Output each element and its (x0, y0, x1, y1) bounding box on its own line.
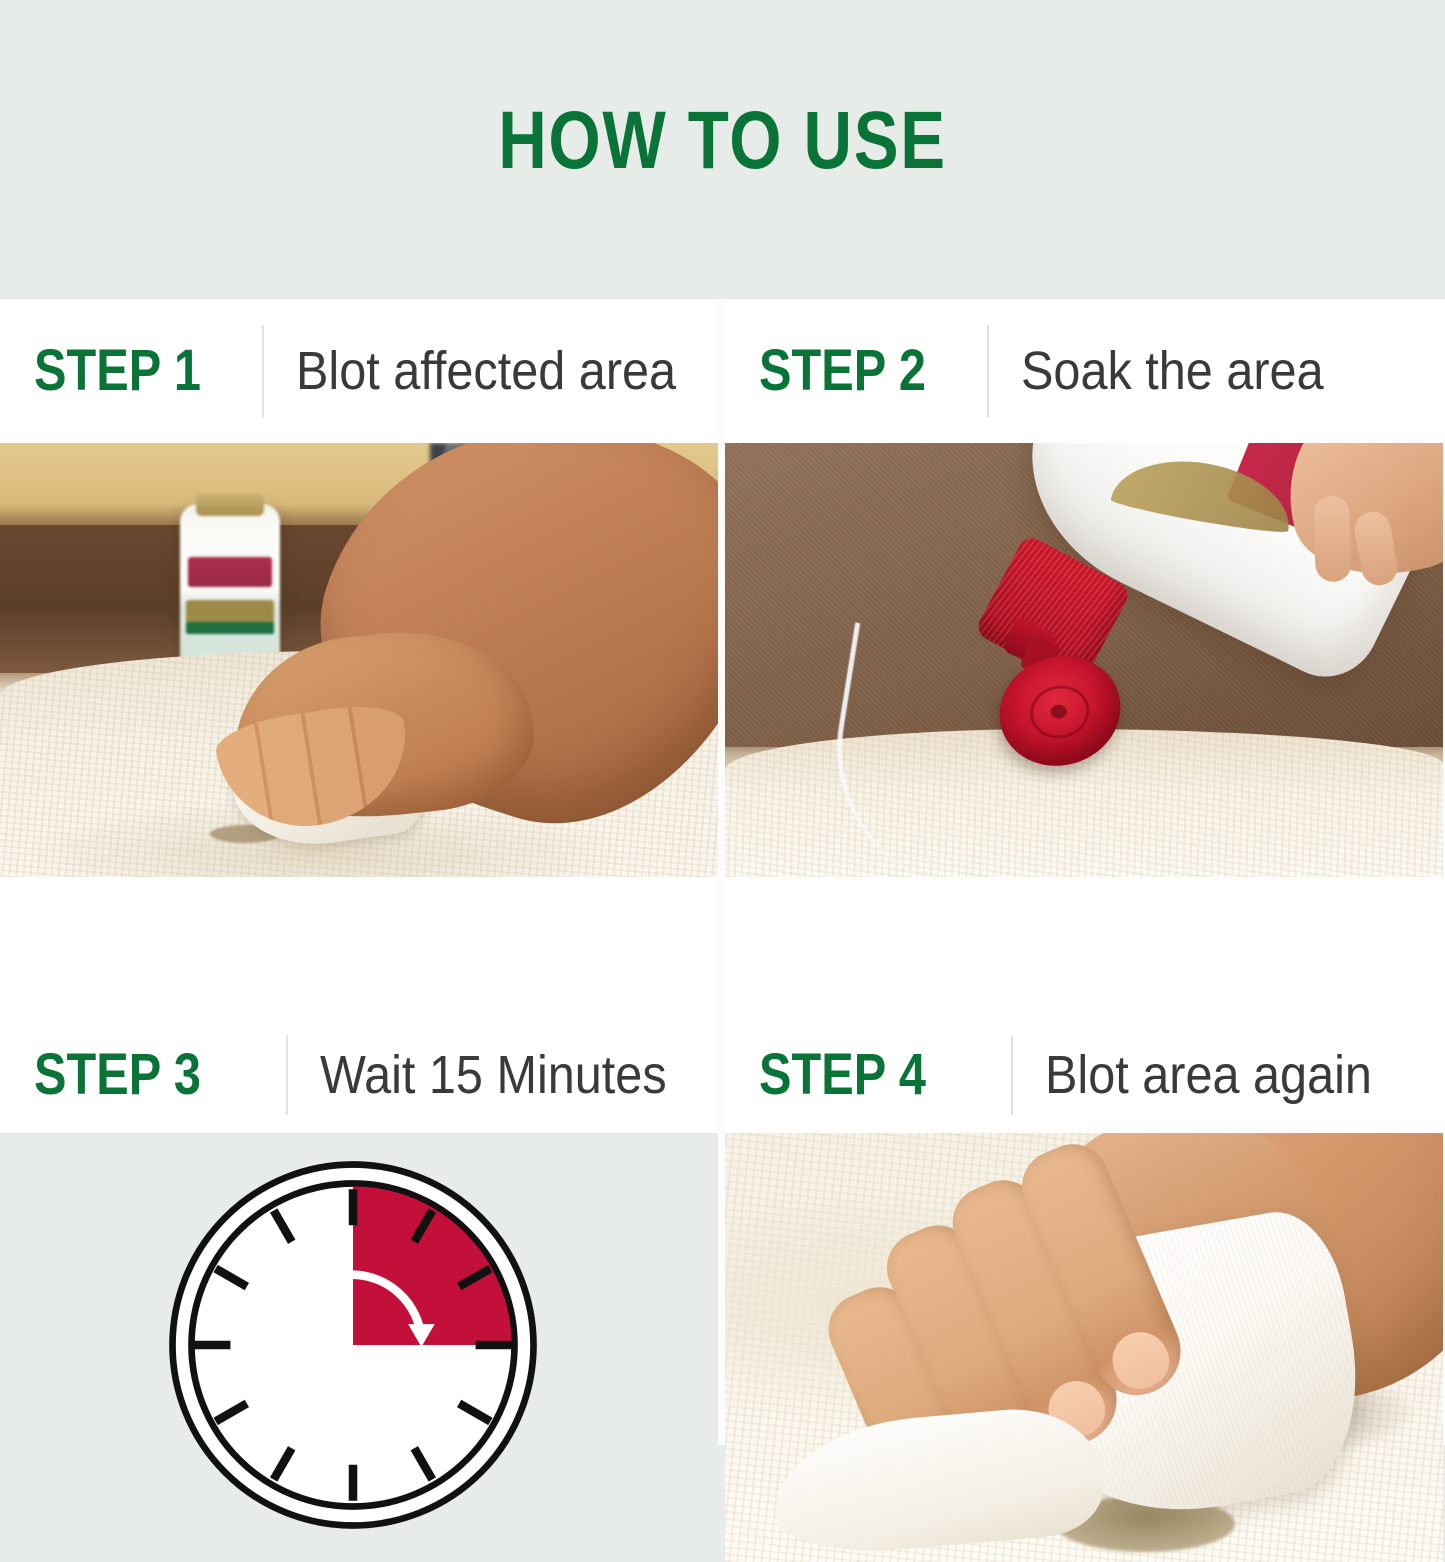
finger (1313, 495, 1352, 582)
step-4-divider (1011, 1035, 1013, 1115)
step-2-label-band: STEP 2 Soak the area (725, 299, 1443, 443)
step-4-number: STEP 4 (759, 1046, 971, 1104)
bottle-cap (196, 494, 264, 516)
step-panel-2: STEP 2 Soak the area (725, 299, 1443, 877)
step-1-number: STEP 1 (34, 342, 225, 400)
step-3-illustration (0, 1133, 718, 1562)
step-2-number: STEP 2 (759, 342, 951, 400)
step-3-text: Wait 15 Minutes (320, 1048, 667, 1102)
step-3-divider (286, 1035, 288, 1115)
step-panel-3: STEP 3 Wait 15 Minutes (0, 1016, 718, 1562)
bottle-green-stripe (186, 622, 274, 634)
step-panel-1: STEP 1 Blot affected area (0, 299, 718, 877)
bottle-logo (188, 557, 272, 587)
clock-icon (163, 1155, 543, 1535)
step-4-label-band: STEP 4 Blot area again (725, 1016, 1443, 1133)
step-1-text: Blot affected area (296, 344, 676, 398)
fingernail (1104, 1323, 1177, 1396)
step-panel-4: STEP 4 Blot area again (725, 1016, 1443, 1562)
step-1-divider (262, 325, 264, 417)
step-2-photo (725, 443, 1443, 877)
step-2-text: Soak the area (1021, 344, 1324, 398)
header-band: HOW TO USE (0, 0, 1445, 299)
step-4-photo (725, 1133, 1443, 1562)
step-1-photo (0, 443, 718, 877)
how-to-use-infographic: HOW TO USE STEP 1 Blot affected area (0, 0, 1445, 1445)
step-2-divider (987, 325, 989, 417)
steps-grid: STEP 1 Blot affected area (0, 299, 1445, 1445)
page-title: HOW TO USE (498, 100, 947, 182)
step-3-label-band: STEP 3 Wait 15 Minutes (0, 1016, 718, 1133)
step-4-text: Blot area again (1045, 1048, 1372, 1102)
step-3-number: STEP 3 (34, 1046, 246, 1104)
column-gap-divider (718, 299, 725, 1445)
step-1-label-band: STEP 1 Blot affected area (0, 299, 718, 443)
